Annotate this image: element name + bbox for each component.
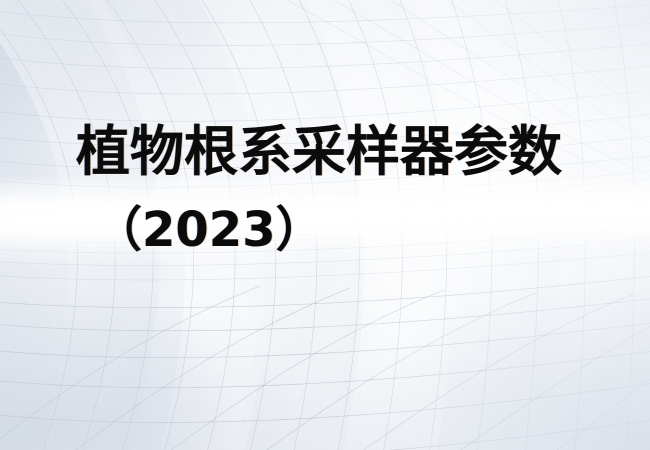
title-slide: 植物根系采样器参数 （2023）	[0, 0, 650, 450]
page-title-year: （2023）	[94, 203, 324, 257]
page-title: 植物根系采样器参数	[76, 122, 562, 182]
title-text-layer: 植物根系采样器参数 （2023）	[0, 0, 650, 450]
